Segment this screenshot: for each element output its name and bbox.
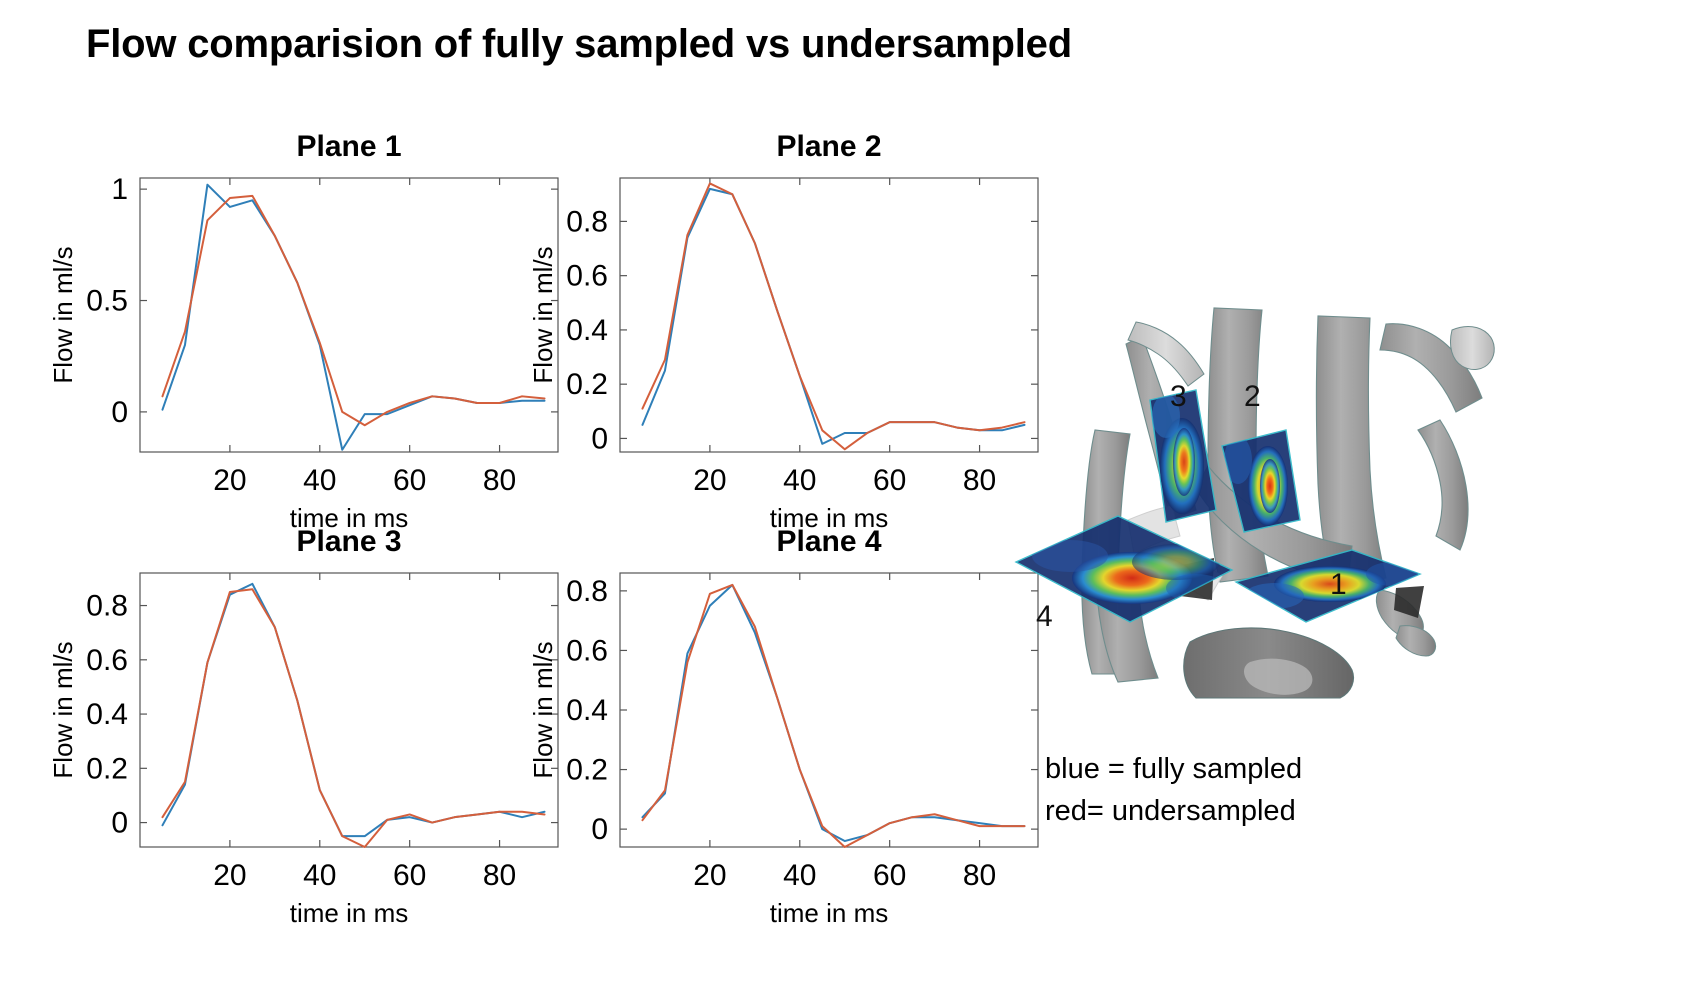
plane-label-1: 1 <box>1330 570 1347 600</box>
y-tick-label: 0 <box>111 807 128 840</box>
axes-box <box>620 178 1038 452</box>
vessel-render-svg <box>1000 270 1500 700</box>
x-tick-label: 40 <box>783 464 816 497</box>
x-tick-label: 40 <box>783 859 816 892</box>
x-tick-label: 20 <box>213 464 246 497</box>
x-tick-label: 20 <box>693 464 726 497</box>
series-line-undersampled <box>642 183 1024 449</box>
x-tick-label: 60 <box>393 859 426 892</box>
y-tick-label: 0.2 <box>86 752 128 785</box>
series-line-undersampled <box>162 196 544 425</box>
y-tick-label: 0.4 <box>566 694 608 727</box>
y-tick-label: 0.4 <box>566 314 608 347</box>
x-tick-label: 60 <box>873 859 906 892</box>
subplot-plane2: Plane 22040608000.20.40.60.8Flow in ml/s… <box>520 120 1050 520</box>
series-line-fully-sampled <box>162 185 544 450</box>
legend-red-entry: red= undersampled <box>1045 790 1465 832</box>
series-line-undersampled <box>642 585 1024 847</box>
x-tick-label: 80 <box>963 859 996 892</box>
y-tick-label: 0.8 <box>566 575 608 608</box>
chart-plane1: Plane 12040608000.51Flow in ml/stime in … <box>40 120 570 520</box>
chart-title: Plane 2 <box>776 130 881 163</box>
subplot-plane4: Plane 42040608000.20.40.60.8Flow in ml/s… <box>520 515 1050 915</box>
chart-title: Plane 4 <box>776 525 881 558</box>
y-tick-label: 0 <box>591 422 608 455</box>
chart-plane4: Plane 42040608000.20.40.60.8Flow in ml/s… <box>520 515 1050 915</box>
y-tick-label: 0 <box>111 396 128 429</box>
y-tick-label: 0.6 <box>86 644 128 677</box>
y-axis-label: Flow in ml/s <box>528 246 558 383</box>
x-tick-label: 60 <box>393 464 426 497</box>
x-axis-label: time in ms <box>290 898 408 928</box>
y-tick-label: 0.5 <box>86 285 128 318</box>
chart-title: Plane 1 <box>296 130 401 163</box>
x-tick-label: 20 <box>213 859 246 892</box>
legend: blue = fully sampled red= undersampled <box>1045 748 1465 832</box>
x-tick-label: 80 <box>963 464 996 497</box>
y-axis-label: Flow in ml/s <box>48 246 78 383</box>
axes-box <box>620 573 1038 847</box>
vessel-3d-render: 3 2 1 4 <box>1000 270 1500 700</box>
axes-box <box>140 573 558 847</box>
y-axis-label: Flow in ml/s <box>528 641 558 778</box>
x-tick-label: 20 <box>693 859 726 892</box>
y-tick-label: 1 <box>111 173 128 206</box>
plane-label-4: 4 <box>1036 602 1053 632</box>
y-axis-label: Flow in ml/s <box>48 641 78 778</box>
x-tick-label: 80 <box>483 464 516 497</box>
y-tick-label: 0.8 <box>86 590 128 623</box>
series-line-fully-sampled <box>642 189 1024 444</box>
x-tick-label: 80 <box>483 859 516 892</box>
x-tick-label: 40 <box>303 859 336 892</box>
chart-plane2: Plane 22040608000.20.40.60.8Flow in ml/s… <box>520 120 1050 520</box>
y-tick-label: 0.6 <box>566 634 608 667</box>
y-tick-label: 0.6 <box>566 260 608 293</box>
subplot-plane1: Plane 12040608000.51Flow in ml/stime in … <box>40 120 570 520</box>
y-tick-label: 0.8 <box>566 205 608 238</box>
x-tick-label: 60 <box>873 464 906 497</box>
chart-title: Plane 3 <box>296 525 401 558</box>
plane-label-2: 2 <box>1244 382 1261 412</box>
subplot-plane3: Plane 32040608000.20.40.60.8Flow in ml/s… <box>40 515 570 915</box>
chart-plane3: Plane 32040608000.20.40.60.8Flow in ml/s… <box>40 515 570 915</box>
x-axis-label: time in ms <box>770 898 888 928</box>
y-tick-label: 0 <box>591 813 608 846</box>
y-tick-label: 0.2 <box>566 754 608 787</box>
y-tick-label: 0.4 <box>86 698 128 731</box>
legend-blue-entry: blue = fully sampled <box>1045 748 1465 790</box>
plane-label-3: 3 <box>1170 382 1187 412</box>
slide-canvas: Flow comparision of fully sampled vs und… <box>0 0 1692 1001</box>
y-tick-label: 0.2 <box>566 368 608 401</box>
flow-comparison-figure: Plane 12040608000.51Flow in ml/stime in … <box>0 0 1030 1001</box>
x-tick-label: 40 <box>303 464 336 497</box>
